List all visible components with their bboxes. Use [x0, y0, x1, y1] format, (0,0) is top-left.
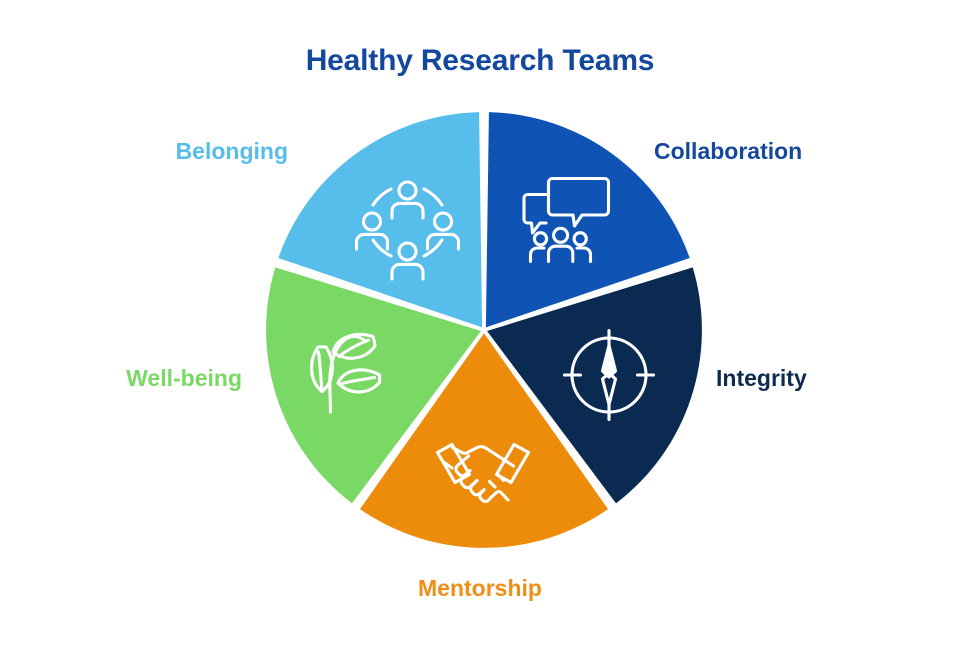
pie-chart: Belonging Collaboration Integrity Mentor… — [0, 0, 960, 640]
pie-label-collaboration: Collaboration — [654, 140, 802, 163]
pie-label-wellbeing: Well-being — [126, 367, 242, 390]
pie-label-mentorship: Mentorship — [0, 577, 960, 600]
pie-label-belonging: Belonging — [176, 140, 288, 163]
infographic-canvas: Healthy Research Teams — [0, 0, 960, 640]
pie-label-integrity: Integrity — [716, 367, 807, 390]
pie-chart-svg — [0, 0, 960, 640]
